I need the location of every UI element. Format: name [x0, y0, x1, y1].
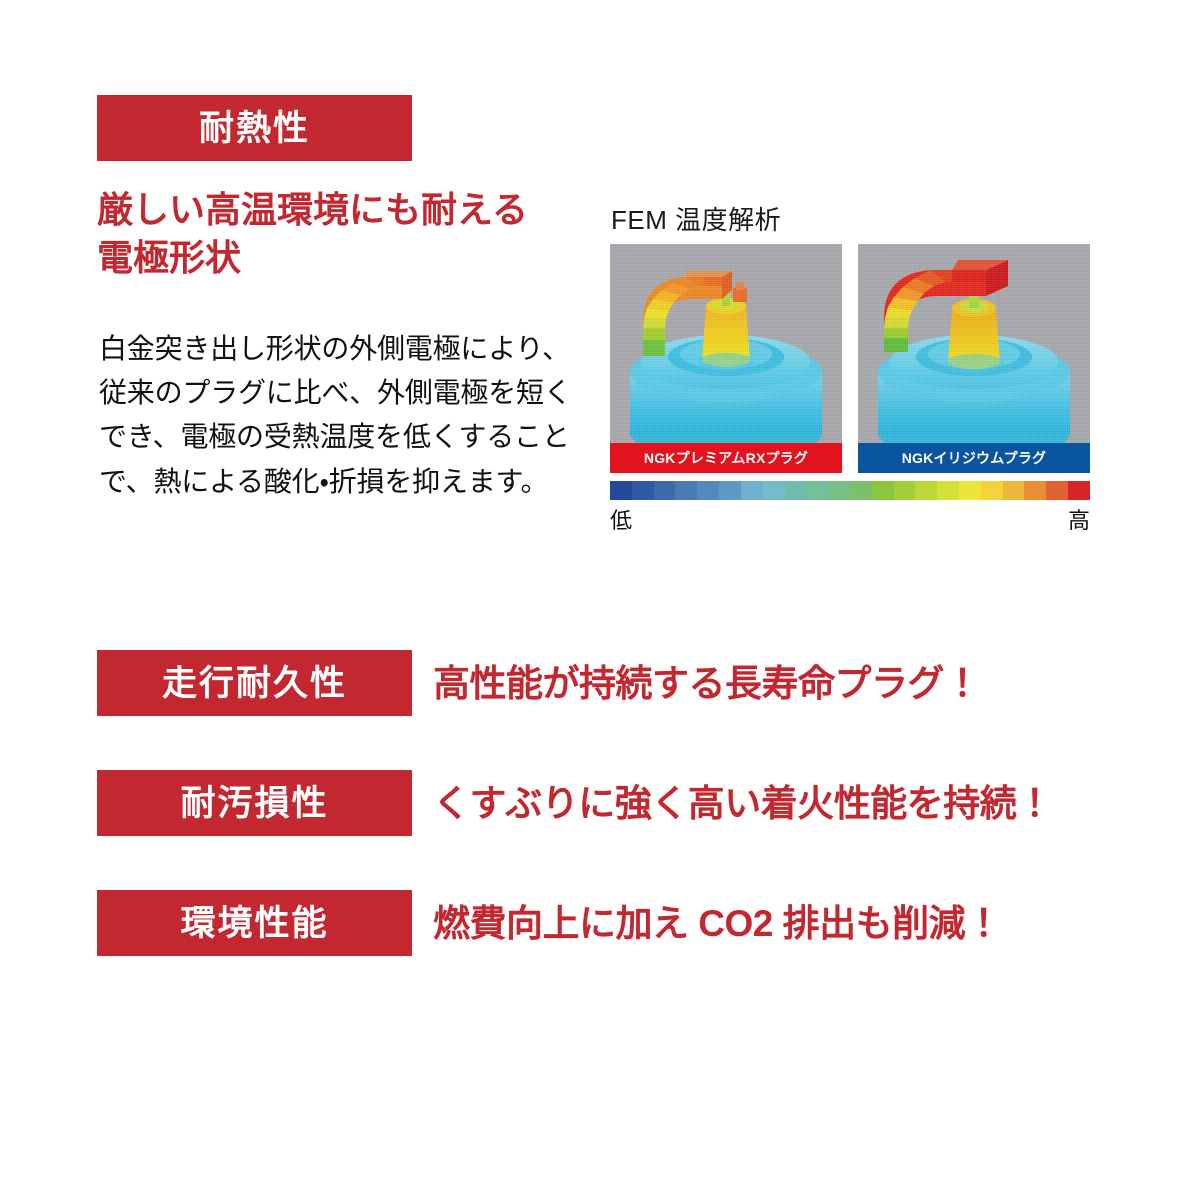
- fem-scale-swatch-10: [828, 481, 850, 500]
- fem-scale-swatch-15: [937, 481, 959, 500]
- fem-scale-swatch-17: [981, 481, 1003, 500]
- fem-scale-swatch-8: [785, 481, 807, 500]
- fem-scale-low-label: 低: [610, 503, 632, 535]
- fem-caption-iridium-label: NGKイリジウムプラグ: [902, 448, 1046, 468]
- heat-resistance-badge-label: 耐熱性: [199, 111, 310, 146]
- heat-resistance-body: 白金突き出し形状の外側電極により、 従来のプラグに比べ、外側電極を短く でき、電…: [99, 327, 585, 504]
- fem-thermal-render-premium-rx: [610, 244, 842, 473]
- feature-badge-driving-durability-label: 走行耐久性: [162, 666, 347, 701]
- heat-resistance-heading-line1: 厳しい高温環境にも耐える: [97, 189, 528, 230]
- feature-badge-fouling-resistance: 耐汚損性: [97, 770, 412, 836]
- fem-scale-swatch-12: [872, 481, 894, 500]
- fem-scale-swatch-7: [763, 481, 785, 500]
- fem-scale-swatch-0: [610, 481, 632, 500]
- heat-resistance-heading-line2: 電極形状: [97, 234, 577, 282]
- heat-resistance-heading: 厳しい高温環境にも耐える 電極形状: [97, 186, 577, 282]
- fem-caption-premium-rx-label: NGKプレミアムRXプラグ: [644, 448, 808, 468]
- fem-scale-swatch-13: [894, 481, 916, 500]
- feature-badge-environmental-performance: 環境性能: [97, 890, 412, 956]
- heat-resistance-badge: 耐熱性: [97, 95, 412, 161]
- feature-badge-driving-durability: 走行耐久性: [97, 650, 412, 716]
- fem-scale-swatch-20: [1046, 481, 1068, 500]
- fem-scale-swatch-21: [1068, 481, 1090, 500]
- feature-text-driving-durability: 高性能が持続する長寿命プラグ！: [433, 665, 981, 702]
- fem-scale-swatch-14: [915, 481, 937, 500]
- fem-scale-swatch-9: [806, 481, 828, 500]
- feature-badge-fouling-resistance-label: 耐汚損性: [180, 786, 328, 821]
- feature-text-environmental-performance: 燃費向上に加え CO2 排出も削減！: [433, 905, 1002, 942]
- heat-resistance-body-line4: で、熱による酸化・折損を抑えます。: [99, 460, 585, 504]
- fem-temperature-scale: [610, 481, 1090, 500]
- fem-panel-iridium: NGKイリジウムプラグ: [858, 244, 1090, 473]
- feature-row-environmental-performance: 環境性能 燃費向上に加え CO2 排出も削減！: [97, 890, 1037, 956]
- fem-scale-swatch-5: [719, 481, 741, 500]
- fem-caption-premium-rx: NGKプレミアムRXプラグ: [610, 443, 842, 473]
- fem-scale-swatch-19: [1024, 481, 1046, 500]
- fem-scale-swatch-6: [741, 481, 763, 500]
- fem-scale-swatch-4: [697, 481, 719, 500]
- fem-scale-swatch-2: [654, 481, 676, 500]
- fem-analysis-title: FEM 温度解析: [611, 200, 781, 237]
- heat-resistance-body-line2: 従来のプラグに比べ、外側電極を短く: [99, 371, 585, 415]
- heat-resistance-body-line1: 白金突き出し形状の外側電極により、: [99, 327, 585, 371]
- fem-thermal-render-iridium: [858, 244, 1090, 473]
- feature-badge-environmental-performance-label: 環境性能: [180, 906, 328, 941]
- fem-panel-group: NGKプレミアムRXプラグ: [610, 244, 1090, 473]
- feature-text-fouling-resistance: くすぶりに強く高い着火性能を持続！: [433, 785, 1053, 822]
- fem-scale-swatch-1: [632, 481, 654, 500]
- fem-scale-swatch-18: [1003, 481, 1025, 500]
- feature-row-driving-durability: 走行耐久性 高性能が持続する長寿命プラグ！: [97, 650, 1037, 716]
- feature-row-fouling-resistance: 耐汚損性 くすぶりに強く高い着火性能を持続！: [97, 770, 1037, 836]
- fem-scale-high-label: 高: [1068, 503, 1090, 535]
- heat-resistance-body-line3: でき、電極の受熱温度を低くすること: [99, 415, 585, 459]
- fem-temperature-scale-labels: 低 高: [610, 503, 1090, 535]
- fem-scale-swatch-3: [675, 481, 697, 500]
- fem-caption-iridium: NGKイリジウムプラグ: [858, 443, 1090, 473]
- fem-scale-swatch-16: [959, 481, 981, 500]
- fem-scale-swatch-11: [850, 481, 872, 500]
- fem-panel-premium-rx: NGKプレミアムRXプラグ: [610, 244, 842, 473]
